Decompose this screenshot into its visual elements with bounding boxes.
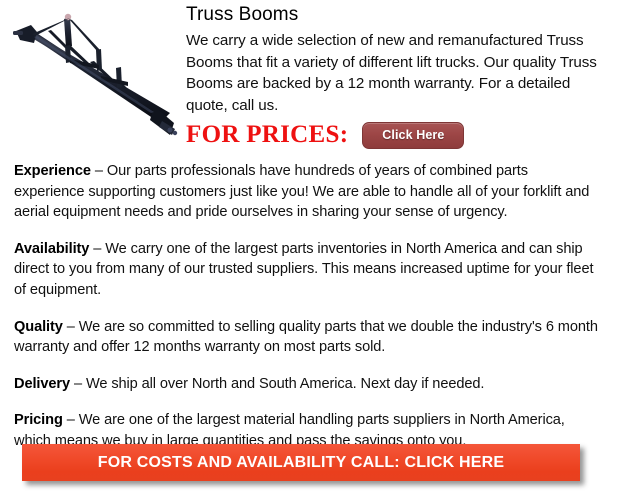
feature-dash-delivery: – — [70, 376, 86, 392]
cta-section: FOR COSTS AND AVAILABILITY CALL: CLICK H… — [22, 444, 580, 481]
feature-paragraph-experience: Experience – Our parts professionals hav… — [14, 161, 600, 223]
product-hero-section: Truss Booms We carry a wide selection of… — [0, 0, 619, 158]
feature-paragraph-quality: Quality – We are so committed to selling… — [14, 317, 600, 358]
page-title: Truss Booms — [186, 3, 606, 27]
feature-dash-pricing: – — [63, 412, 79, 428]
click-here-button-label: Click Here — [382, 128, 444, 142]
for-prices-label: FOR PRICES: — [186, 120, 348, 150]
feature-label-availability: Availability — [14, 241, 89, 257]
feature-label-delivery: Delivery — [14, 376, 70, 392]
truss-boom-product-image — [4, 2, 182, 142]
product-copy: Truss Booms We carry a wide selection of… — [186, 3, 606, 116]
click-here-button[interactable]: Click Here — [362, 122, 464, 149]
feature-dash-experience: – — [91, 163, 107, 179]
features-section: Experience – Our parts professionals hav… — [14, 161, 600, 452]
feature-paragraph-delivery: Delivery – We ship all over North and So… — [14, 374, 600, 395]
for-prices-row: FOR PRICES: Click Here — [186, 120, 464, 150]
product-description: We carry a wide selection of new and rem… — [186, 30, 606, 116]
feature-dash-quality: – — [63, 319, 79, 335]
truss-boom-illustration — [4, 2, 182, 142]
feature-text-quality: We are so committed to selling quality p… — [14, 319, 598, 356]
feature-label-quality: Quality — [14, 319, 63, 335]
feature-label-experience: Experience — [14, 163, 91, 179]
costs-availability-cta-button[interactable]: FOR COSTS AND AVAILABILITY CALL: CLICK H… — [22, 444, 580, 481]
costs-availability-cta-label: FOR COSTS AND AVAILABILITY CALL: CLICK H… — [98, 454, 505, 472]
feature-text-delivery: We ship all over North and South America… — [86, 376, 484, 392]
feature-paragraph-availability: Availability – We carry one of the large… — [14, 239, 600, 301]
feature-label-pricing: Pricing — [14, 412, 63, 428]
feature-dash-availability: – — [89, 241, 105, 257]
